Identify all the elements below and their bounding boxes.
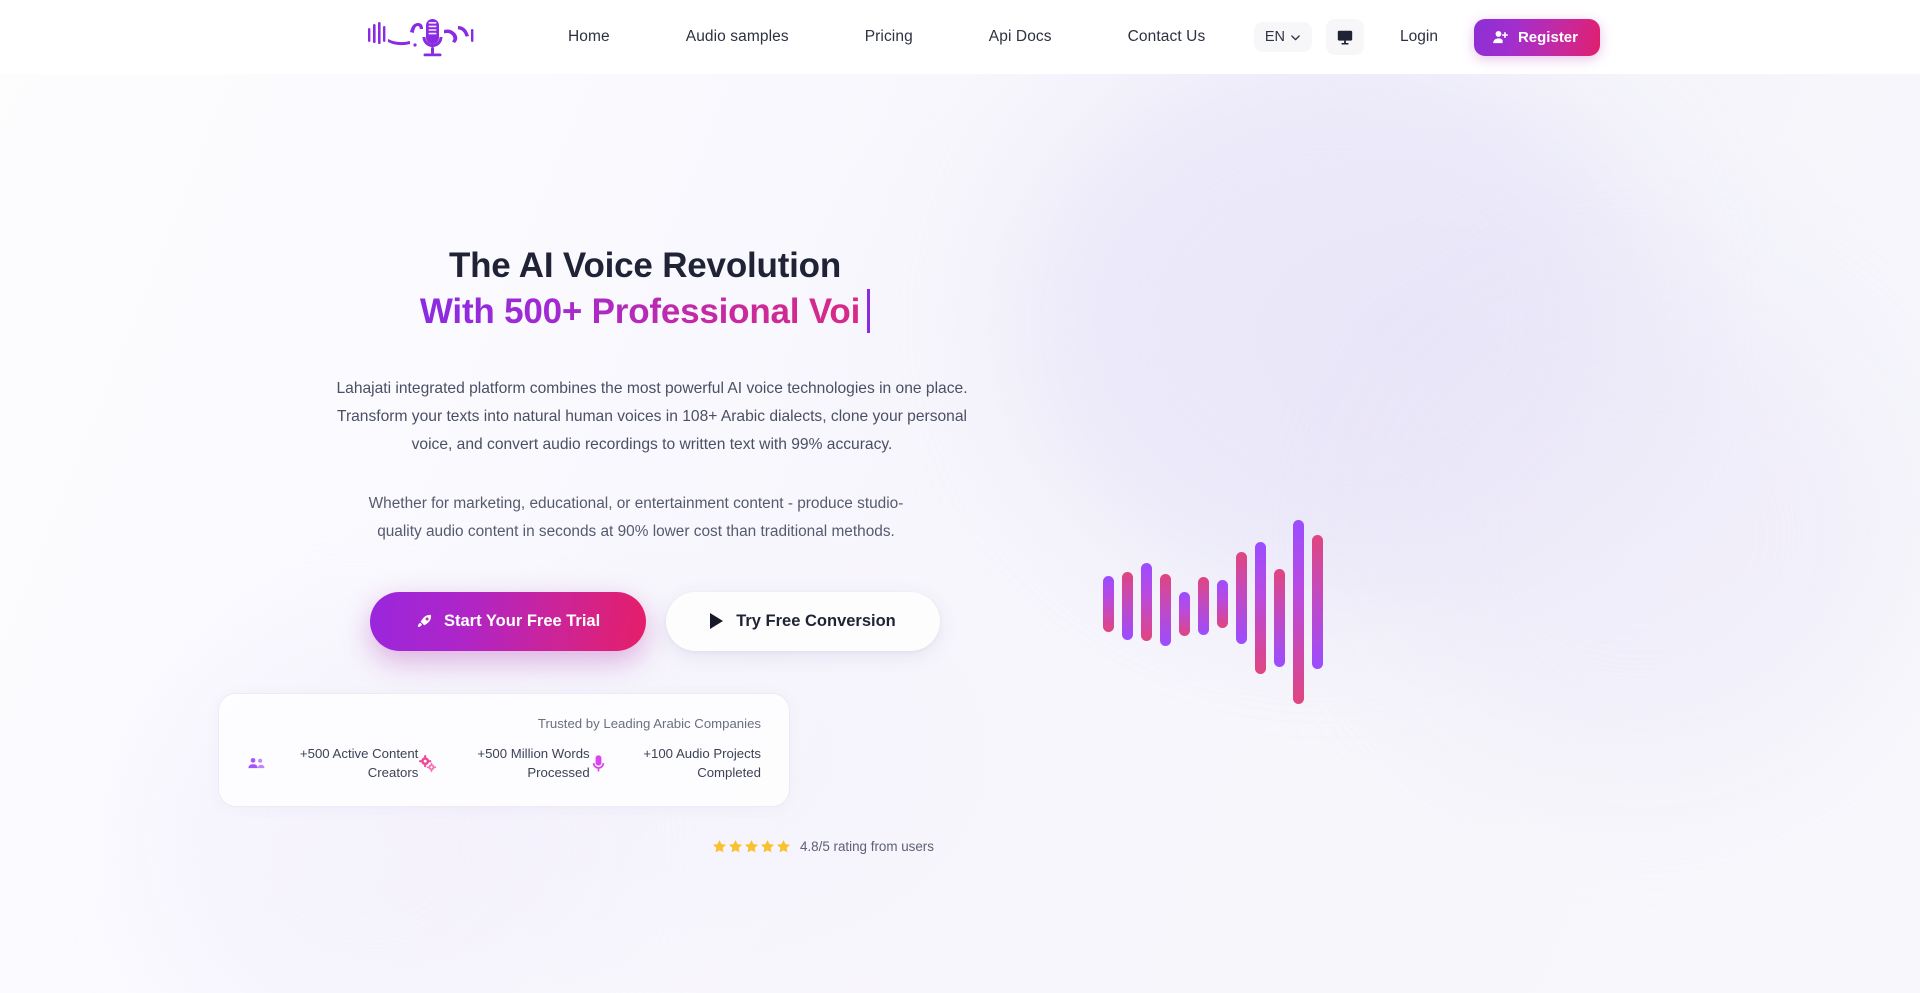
audio-waveform [1103,474,1323,734]
rocket-icon [416,613,433,630]
hero-cta-row: Start Your Free Trial Try Free Conversio… [370,592,1100,651]
nav-audio-samples[interactable]: Audio samples [686,19,789,55]
logo-microphone-icon [366,12,478,62]
rating-stars [712,839,791,854]
language-label: EN [1265,29,1285,45]
register-button-label: Register [1518,29,1578,46]
gears-icon [418,754,437,773]
stat-audio-projects-text: +100 Audio Projects Completed [617,745,761,782]
chevron-down-icon [1290,32,1301,43]
user-plus-icon [1492,29,1509,46]
site-logo[interactable] [366,11,478,63]
primary-navigation: Home Audio samples Pricing Api Docs Cont… [568,19,1205,55]
stat-words-processed: +500 Million Words Processed [418,745,589,782]
register-button[interactable]: Register [1474,19,1600,56]
headline-line-2: With 500+ Professional Voi [420,290,860,335]
hero-visual [1100,74,1920,993]
waveform-bar [1293,520,1304,704]
nav-api-docs[interactable]: Api Docs [989,19,1052,55]
waveform-bar [1160,574,1171,646]
waveform-bar [1179,592,1190,636]
waveform-bar [1217,580,1228,628]
start-free-trial-button[interactable]: Start Your Free Trial [370,592,646,651]
rating-row: 4.8/5 rating from users [712,839,1100,854]
language-selector[interactable]: EN [1254,22,1312,52]
nav-pricing[interactable]: Pricing [865,19,913,55]
stat-words-processed-text: +500 Million Words Processed [447,745,589,782]
headline-line-1: The AI Voice Revolution [449,246,841,285]
typing-caret [867,289,870,333]
trust-card-title: Trusted by Leading Arabic Companies [247,716,761,731]
display-mode-toggle[interactable] [1326,19,1364,55]
star-icon [728,839,743,854]
stat-active-creators: +500 Active Content Creators [247,745,418,782]
stat-audio-projects: +100 Audio Projects Completed [590,745,761,782]
login-link[interactable]: Login [1400,28,1438,46]
hero-paragraph-2: Whether for marketing, educational, or e… [356,490,916,546]
site-header: Home Audio samples Pricing Api Docs Cont… [0,0,1920,74]
waveform-bar [1236,552,1247,644]
waveform-bar [1103,576,1114,632]
nav-contact-us[interactable]: Contact Us [1128,19,1206,55]
nav-home[interactable]: Home [568,19,610,55]
star-icon [776,839,791,854]
waveform-bar [1274,569,1285,667]
microphone-icon [590,754,607,773]
star-icon [712,839,727,854]
monitor-icon [1336,28,1354,46]
page-title: The AI Voice Revolution With 500+ Profes… [225,244,1065,335]
waveform-bar [1122,572,1133,640]
waveform-bar [1141,563,1152,641]
start-free-trial-label: Start Your Free Trial [444,612,600,631]
waveform-bar [1198,577,1209,635]
header-actions: EN Login Register [1254,19,1600,56]
play-icon [710,613,723,629]
star-icon [744,839,759,854]
try-free-conversion-label: Try Free Conversion [736,612,896,631]
trust-stats-row: +500 Active Content Creators [247,745,761,782]
users-group-icon [247,754,266,773]
stat-active-creators-text: +500 Active Content Creators [276,745,418,782]
trust-card: Trusted by Leading Arabic Companies +500… [218,693,790,807]
star-icon [760,839,775,854]
try-free-conversion-button[interactable]: Try Free Conversion [666,592,940,651]
rating-text: 4.8/5 rating from users [800,839,934,854]
waveform-bar [1255,542,1266,674]
hero-section: The AI Voice Revolution With 500+ Profes… [0,74,1920,993]
hero-paragraph-1: Lahajati integrated platform combines th… [322,375,982,460]
waveform-bar [1312,535,1323,669]
hero-content: The AI Voice Revolution With 500+ Profes… [0,74,1100,993]
